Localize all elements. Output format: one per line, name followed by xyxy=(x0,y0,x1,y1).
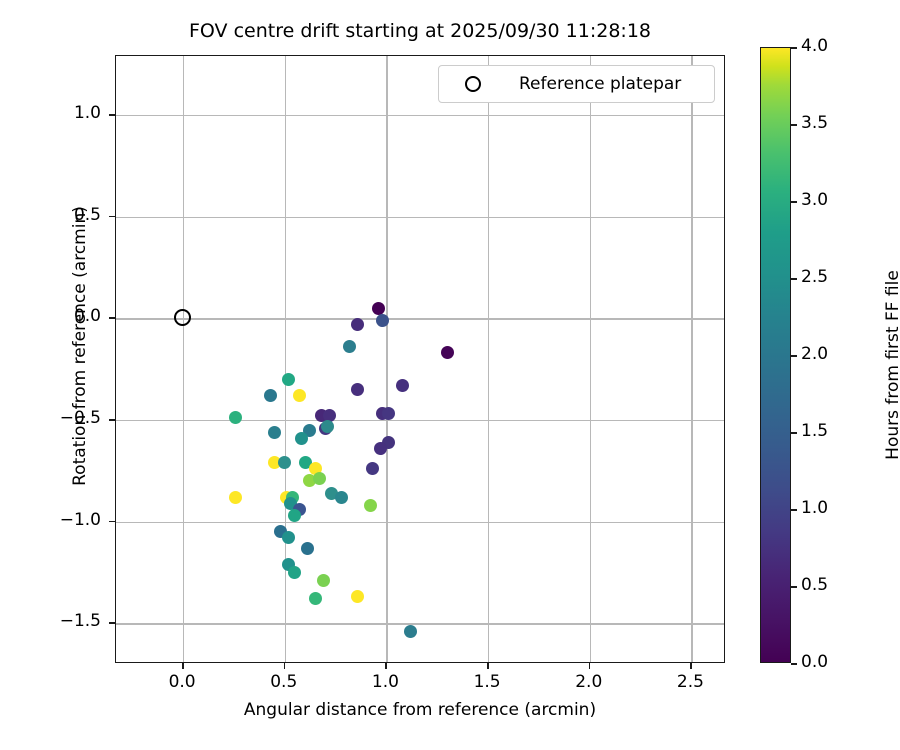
scatter-point xyxy=(229,411,242,424)
y-tick xyxy=(109,317,115,319)
y-axis-label: Rotation from reference (arcmin) xyxy=(70,146,90,546)
y-tick xyxy=(109,521,115,523)
x-gridline xyxy=(488,56,489,662)
colorbar-tick-label: 4.0 xyxy=(801,36,828,56)
x-tick xyxy=(690,663,692,669)
y-tick xyxy=(109,419,115,421)
legend: Reference platepar xyxy=(438,65,715,103)
page-title: FOV centre drift starting at 2025/09/30 … xyxy=(115,20,725,42)
x-tick xyxy=(284,663,286,669)
y-tick xyxy=(109,622,115,624)
scatter-point xyxy=(309,592,322,605)
y-tick xyxy=(109,216,115,218)
y-gridline xyxy=(116,420,724,421)
x-axis-label: Angular distance from reference (arcmin) xyxy=(115,700,725,720)
x-gridline xyxy=(285,56,286,662)
colorbar-tick-label: 0.0 xyxy=(801,652,828,672)
y-gridline xyxy=(116,623,724,624)
colorbar-tick-label: 3.0 xyxy=(801,190,828,210)
x-gridline xyxy=(183,56,184,662)
x-tick-label: 0.5 xyxy=(254,672,314,692)
scatter-point xyxy=(321,420,334,433)
scatter-point xyxy=(264,389,277,402)
scatter-point xyxy=(343,340,356,353)
y-tick-label: −1.0 xyxy=(35,510,101,530)
y-gridline xyxy=(116,217,724,218)
x-tick-label: 2.5 xyxy=(660,672,720,692)
scatter-point xyxy=(382,407,395,420)
colorbar-tick xyxy=(791,663,797,665)
x-tick-label: 2.0 xyxy=(559,672,619,692)
x-tick xyxy=(589,663,591,669)
colorbar xyxy=(760,47,791,663)
scatter-point xyxy=(301,542,314,555)
colorbar-tick xyxy=(791,124,797,126)
y-tick-label: 0.0 xyxy=(35,306,101,326)
x-tick xyxy=(487,663,489,669)
scatter-point xyxy=(404,625,417,638)
y-tick-label: −1.5 xyxy=(35,611,101,631)
scatter-point xyxy=(351,383,364,396)
colorbar-tick-label: 2.0 xyxy=(801,344,828,364)
scatter-point xyxy=(229,491,242,504)
scatter-point xyxy=(396,379,409,392)
colorbar-tick xyxy=(791,355,797,357)
scatter-point xyxy=(288,509,301,522)
y-tick-label: 0.5 xyxy=(35,205,101,225)
colorbar-tick xyxy=(791,432,797,434)
x-tick-label: 0.0 xyxy=(152,672,212,692)
scatter-point xyxy=(282,531,295,544)
scatter-point xyxy=(366,462,379,475)
scatter-point xyxy=(278,456,291,469)
scatter-point xyxy=(282,373,295,386)
y-gridline xyxy=(116,115,724,116)
x-tick xyxy=(182,663,184,669)
y-tick-label: 1.0 xyxy=(35,103,101,123)
x-tick-label: 1.0 xyxy=(355,672,415,692)
y-gridline xyxy=(116,522,724,523)
x-gridline xyxy=(590,56,591,662)
scatter-point xyxy=(335,491,348,504)
colorbar-tick-label: 1.5 xyxy=(801,421,828,441)
y-tick-label: −0.5 xyxy=(35,408,101,428)
scatter-point xyxy=(351,318,364,331)
colorbar-tick xyxy=(791,278,797,280)
reference-platepar-point xyxy=(174,309,191,326)
reference-platepar-marker-icon xyxy=(465,76,481,92)
scatter-point xyxy=(374,442,387,455)
colorbar-tick-label: 1.0 xyxy=(801,498,828,518)
scatter-point xyxy=(268,426,281,439)
y-gridline xyxy=(116,318,724,319)
x-tick-label: 1.5 xyxy=(457,672,517,692)
scatter-point xyxy=(313,472,326,485)
colorbar-tick-label: 3.5 xyxy=(801,113,828,133)
colorbar-tick xyxy=(791,201,797,203)
scatter-point xyxy=(295,432,308,445)
scatter-point xyxy=(372,302,385,315)
scatter-point xyxy=(317,574,330,587)
colorbar-tick-label: 2.5 xyxy=(801,267,828,287)
colorbar-label: Hours from first FF file xyxy=(883,185,900,545)
colorbar-tick-label: 0.5 xyxy=(801,575,828,595)
scatter-point xyxy=(293,389,306,402)
scatter-point xyxy=(351,590,364,603)
x-gridline xyxy=(691,56,692,662)
scatter-point xyxy=(376,314,389,327)
scatter-point xyxy=(364,499,377,512)
plot-area xyxy=(115,55,725,663)
scatter-point xyxy=(441,346,454,359)
scatter-point xyxy=(288,566,301,579)
colorbar-tick xyxy=(791,509,797,511)
matplotlib-figure: FOV centre drift starting at 2025/09/30 … xyxy=(0,0,900,750)
colorbar-tick xyxy=(791,586,797,588)
legend-entry-label: Reference platepar xyxy=(519,74,681,94)
colorbar-tick xyxy=(791,47,797,49)
x-tick xyxy=(385,663,387,669)
x-gridline xyxy=(386,56,387,662)
y-tick xyxy=(109,114,115,116)
